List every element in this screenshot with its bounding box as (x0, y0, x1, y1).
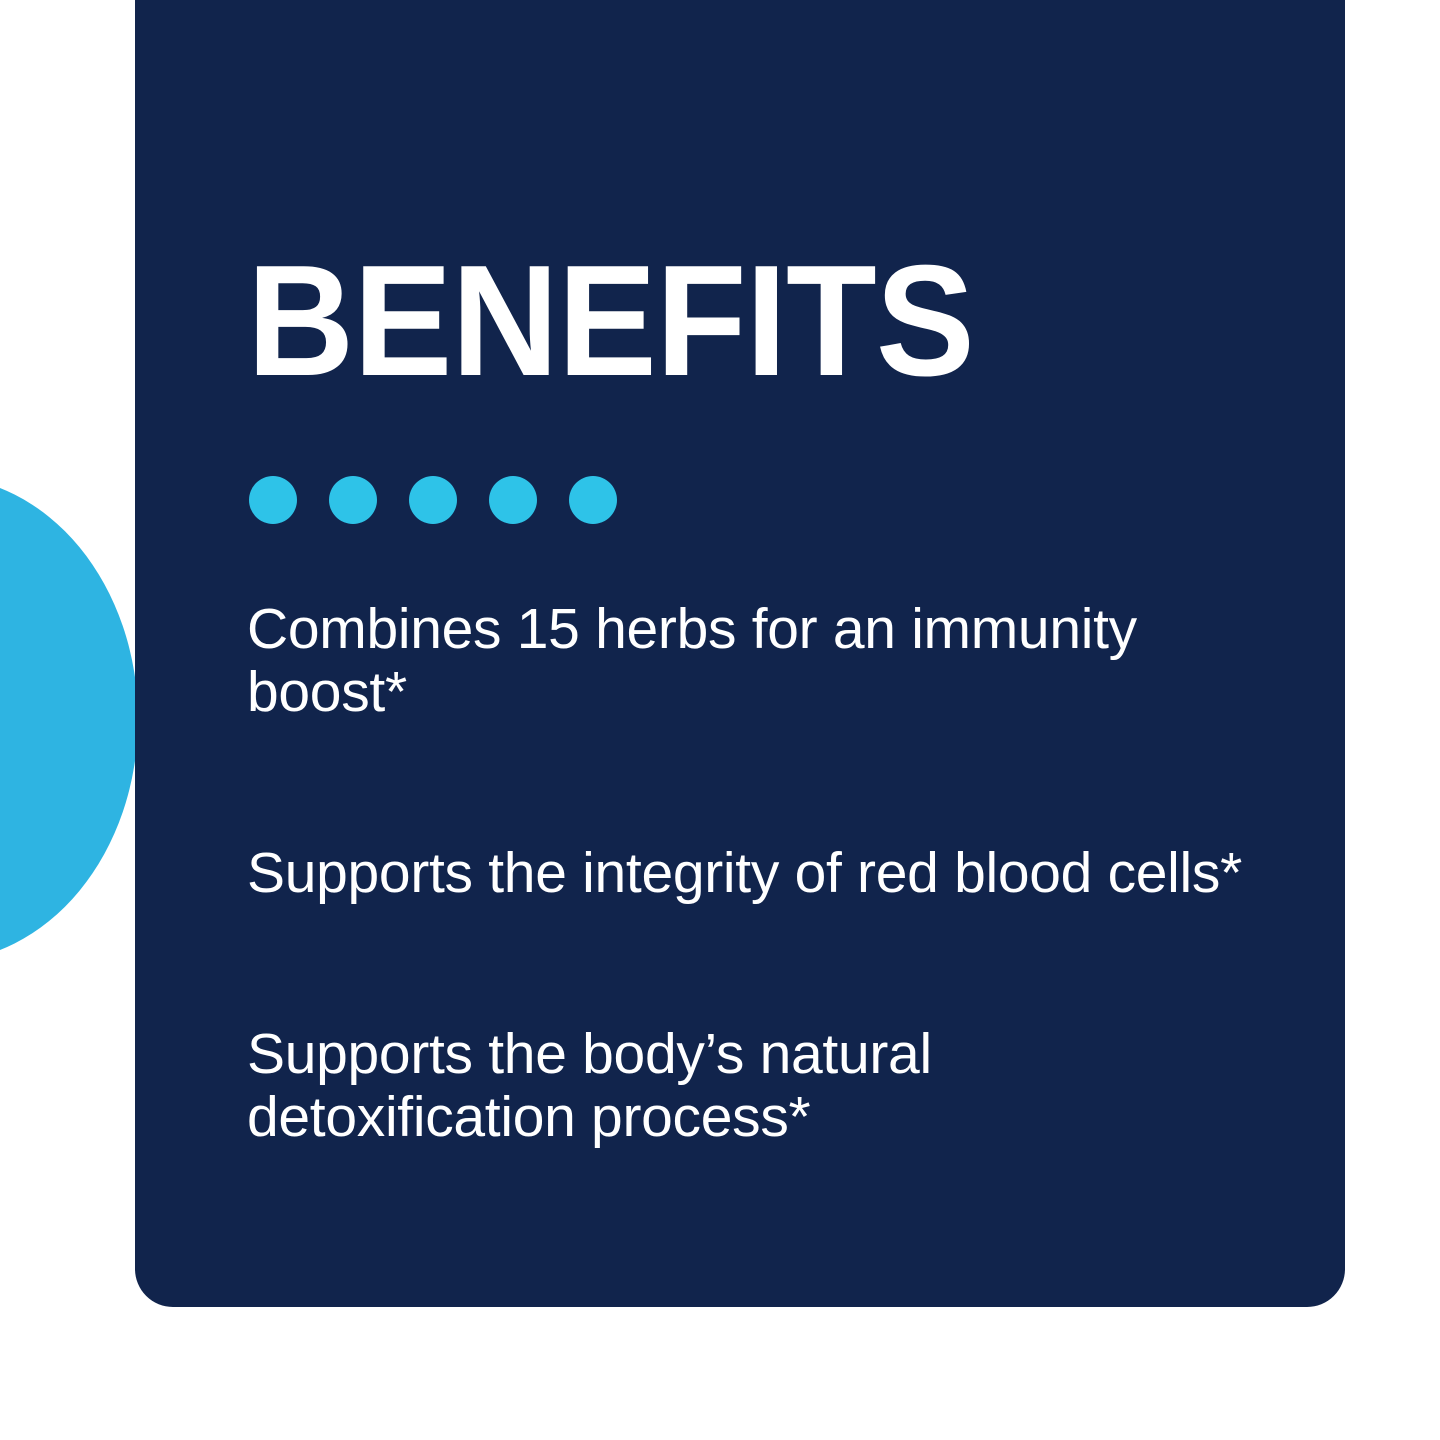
cyan-blob-shape (0, 476, 136, 962)
list-item: Supports the body’s natural detoxificati… (247, 1023, 1257, 1149)
benefits-card: BENEFITS Combines 15 herbs for an immuni… (135, 0, 1345, 1307)
benefits-list: Combines 15 herbs for an immunity boost*… (247, 598, 1257, 1149)
dot-icon-1 (249, 476, 297, 524)
dot-icon-3 (409, 476, 457, 524)
dot-icon-5 (569, 476, 617, 524)
list-item: Supports the integrity of red blood cell… (247, 842, 1257, 905)
page-title: BENEFITS (247, 242, 974, 400)
benefits-panel: BENEFITS Combines 15 herbs for an immuni… (0, 0, 1440, 1440)
dot-divider (249, 476, 617, 524)
benefits-card-content: BENEFITS Combines 15 herbs for an immuni… (135, 0, 1345, 1307)
dot-icon-2 (329, 476, 377, 524)
list-item: Combines 15 herbs for an immunity boost* (247, 598, 1257, 724)
dot-icon-4 (489, 476, 537, 524)
cyan-blob-clip (0, 0, 136, 1440)
